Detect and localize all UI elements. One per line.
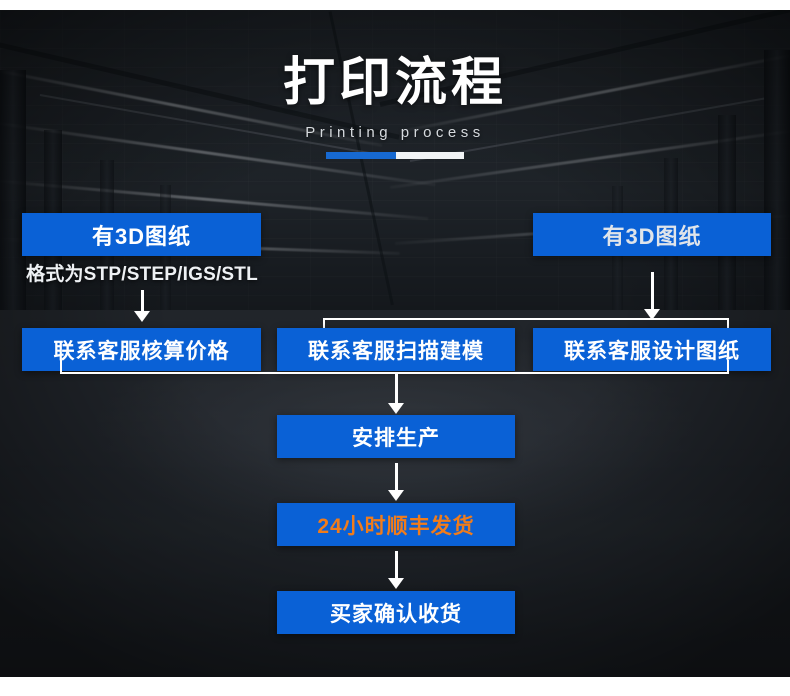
box-has-3d-drawing-left[interactable]: 有3D图纸 xyxy=(22,213,261,256)
arrow-shaft xyxy=(395,372,398,404)
arrow-head xyxy=(134,311,150,322)
page-subtitle: Printing process xyxy=(0,124,790,141)
arrow-shaft xyxy=(395,551,398,579)
arrow-shaft xyxy=(395,463,398,491)
bottom-white-band xyxy=(0,677,790,696)
bracket-top-horizontal xyxy=(323,318,729,320)
arrow-head xyxy=(388,490,404,501)
box-buyer-confirm-receipt[interactable]: 买家确认收货 xyxy=(277,591,515,634)
arrow-down-to-production xyxy=(380,372,412,414)
header-underline-white-segment xyxy=(396,152,464,159)
box-contact-service-design-drawing[interactable]: 联系客服设计图纸 xyxy=(533,328,771,371)
box-arrange-production[interactable]: 安排生产 xyxy=(277,415,515,458)
arrow-down-to-confirm xyxy=(380,551,412,589)
top-white-band xyxy=(0,0,790,10)
flowchart-banner: 打印流程 Printing process 有3D图纸 有3D图纸 格式为STP… xyxy=(0,0,790,696)
arrow-shaft xyxy=(141,290,144,312)
bracket-bottom-right-tick xyxy=(727,360,729,373)
bracket-bottom-left-tick xyxy=(60,360,62,373)
box-contact-service-quote[interactable]: 联系客服核算价格 xyxy=(22,328,261,371)
arrow-down-right xyxy=(636,272,668,320)
box-24h-sf-shipping[interactable]: 24小时顺丰发货 xyxy=(277,503,515,546)
arrow-down-to-shipping xyxy=(380,463,412,501)
page-title: 打印流程 xyxy=(0,55,790,112)
format-note: 格式为STP/STEP/IGS/STL xyxy=(24,259,260,286)
box-has-3d-drawing-right[interactable]: 有3D图纸 xyxy=(533,213,771,256)
header-underline-bar xyxy=(326,152,464,159)
arrow-head xyxy=(388,403,404,414)
arrow-head xyxy=(388,578,404,589)
header-underline-blue-segment xyxy=(326,152,396,159)
arrow-shaft xyxy=(651,272,654,310)
box-contact-service-scan-model[interactable]: 联系客服扫描建模 xyxy=(277,328,515,371)
arrow-down-left xyxy=(126,290,158,322)
header-block: 打印流程 Printing process xyxy=(0,55,790,141)
